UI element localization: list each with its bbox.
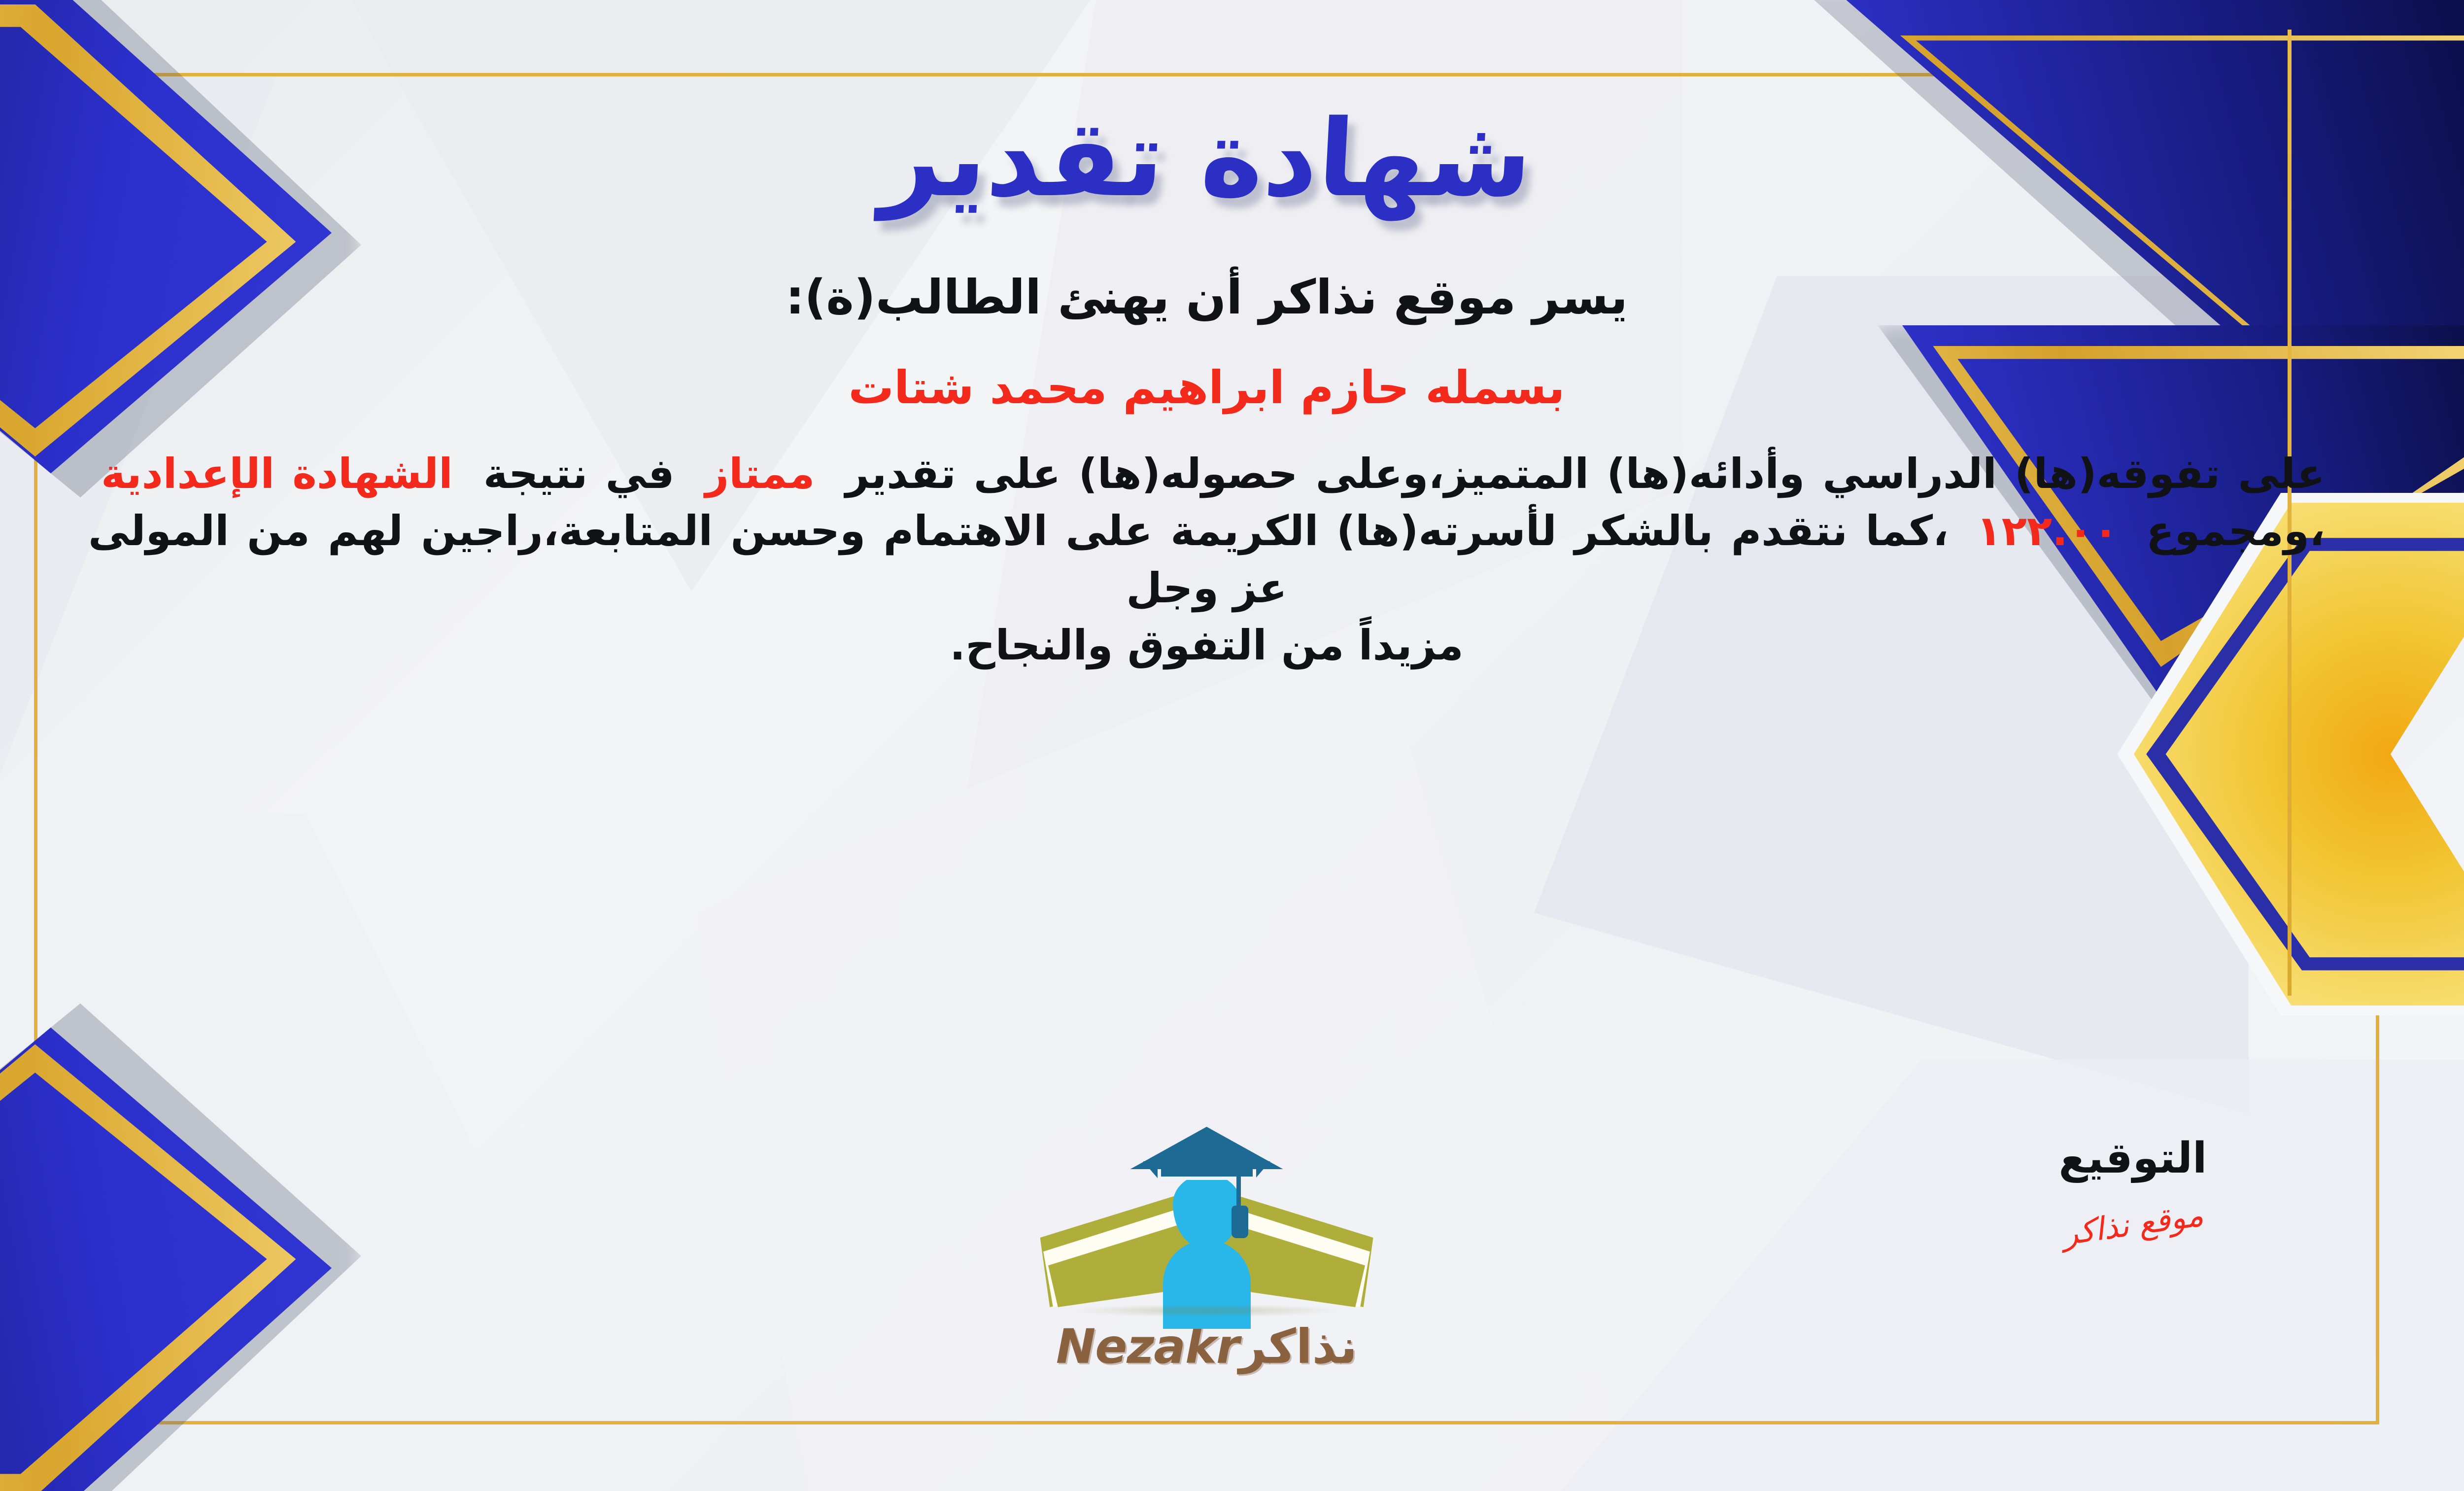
exam-name: الشهادة الإعدادية: [88, 450, 466, 498]
signature-label: التوقيع: [2029, 1134, 2236, 1183]
citation-segment-1: على تفوقه(ها) الدراسي وأدائه(ها) المتميز…: [845, 450, 2325, 498]
site-logo: نذاكرNezakr: [1020, 1123, 1394, 1374]
certificate-title: شهادة تقدير: [85, 105, 2327, 211]
citation-closing-line: مزيداً من التفوق والنجاح.: [88, 617, 2325, 674]
grade-value: ممتاز: [692, 450, 828, 498]
certificate-content: شهادة تقدير يسر موقع نذاكر أن يهنئ الطال…: [34, 73, 2379, 1424]
logo-drop-shadow: [1074, 1304, 1340, 1317]
student-name: بسمله حازم ابراهيم محمد شتات: [88, 361, 2325, 414]
citation-segment-3: ،ومجموع: [2146, 507, 2325, 555]
total-score: ١٢٢.٠٠: [1966, 507, 2128, 555]
citation-paragraph: على تفوقه(ها) الدراسي وأدائه(ها) المتميز…: [88, 446, 2325, 617]
intro-line: يسر موقع نذاكر أن يهنئ الطالب(ة):: [88, 270, 2325, 325]
logo-arabic-text: نذاكر: [1239, 1319, 1357, 1374]
citation-segment-4: ،كما نتقدم بالشكر لأسرته(ها) الكريمة على…: [88, 507, 1949, 612]
citation-segment-5: مزيداً من التفوق والنجاح.: [950, 621, 1464, 669]
graduate-book-icon: [1020, 1123, 1394, 1320]
signature-block: التوقيع موقع نذاكر: [2029, 1134, 2236, 1243]
cap-tassel-cord-icon: [1236, 1149, 1241, 1209]
signature-script: موقع نذاكر: [2028, 1192, 2238, 1257]
cap-tassel-icon: [1232, 1206, 1248, 1238]
certificate-footer: التوقيع موقع نذاكر: [88, 1119, 2325, 1405]
citation-segment-2: في نتيجة: [483, 450, 675, 498]
graduation-cap-icon: [1130, 1127, 1283, 1169]
certificate-canvas: شهادة تقدير يسر موقع نذاكر أن يهنئ الطال…: [0, 0, 2464, 1491]
